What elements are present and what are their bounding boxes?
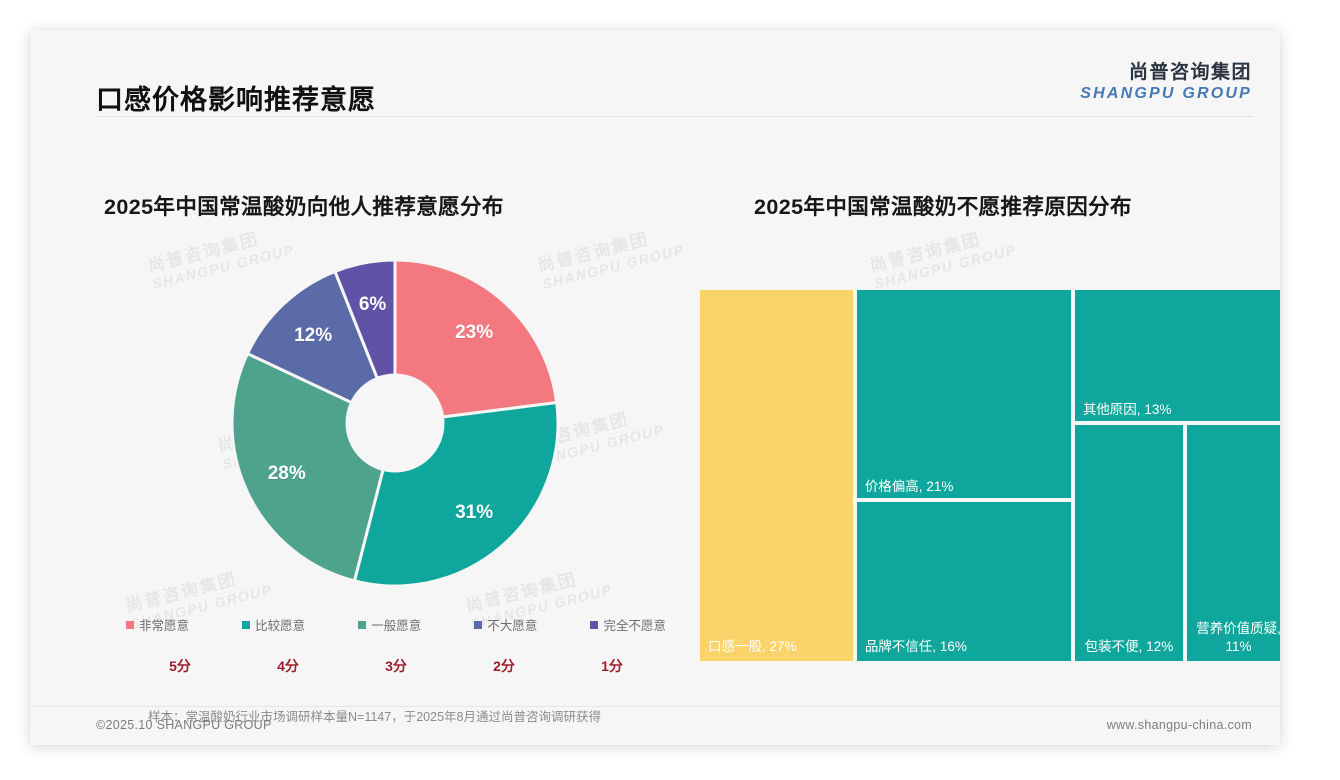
recommendation-willingness-donut-chart: 23%31%28%12%6% <box>125 258 665 608</box>
slide-body: 尚普咨询集团 SHANGPU GROUP 尚普咨询集团 SHANGPU GROU… <box>30 118 1280 708</box>
treemap-cell[interactable]: 价格偏高, 21% <box>855 288 1073 500</box>
score-label: 4分 <box>234 656 342 676</box>
donut-slice-value: 6% <box>359 294 386 316</box>
legend-item[interactable]: 完全不愿意 <box>590 615 666 634</box>
legend-label: 非常愿意 <box>139 615 189 634</box>
legend-label: 一般愿意 <box>371 615 421 634</box>
brand-logo: 尚普咨询集团 SHANGPU GROUP <box>1080 62 1252 103</box>
slide-footer: ©2025.10 SHANGPU GROUP www.shangpu-china… <box>30 706 1280 745</box>
treemap-cell-label: 营养价值质疑, 11% <box>1191 620 1280 655</box>
donut-legend: 非常愿意比较愿意一般愿意不大愿意完全不愿意 <box>126 615 666 634</box>
legend-label: 不大愿意 <box>487 615 537 634</box>
legend-label: 完全不愿意 <box>603 615 666 634</box>
donut-slice-value: 23% <box>455 322 493 344</box>
legend-swatch-icon <box>126 621 134 629</box>
legend-swatch-icon <box>590 621 598 629</box>
donut-slice-value: 31% <box>455 502 493 524</box>
score-label: 1分 <box>558 656 666 676</box>
footer-copyright: ©2025.10 SHANGPU GROUP <box>96 718 272 732</box>
treemap-cell[interactable]: 其他原因, 13% <box>1073 288 1280 423</box>
right-chart-title: 2025年中国常温酸奶不愿推荐原因分布 <box>754 190 1132 221</box>
treemap-cell-label: 其他原因, 13% <box>1083 401 1280 418</box>
left-chart-title: 2025年中国常温酸奶向他人推荐意愿分布 <box>104 190 504 221</box>
legend-item[interactable]: 不大愿意 <box>474 615 537 634</box>
treemap-cell[interactable]: 营养价值质疑, 11% <box>1185 423 1280 663</box>
treemap-cell[interactable]: 包装不便, 12% <box>1073 423 1185 663</box>
legend-item[interactable]: 一般愿意 <box>358 615 421 634</box>
score-label: 2分 <box>450 656 558 676</box>
footer-website: www.shangpu-china.com <box>1107 718 1252 732</box>
score-row: 5分4分3分2分1分 <box>126 656 666 676</box>
legend-label: 比较愿意 <box>255 615 305 634</box>
slide-header: 口感价格影响推荐意愿 尚普咨询集团 SHANGPU GROUP <box>30 30 1280 118</box>
treemap-cell-label: 包装不便, 12% <box>1079 638 1179 655</box>
logo-english-text: SHANGPU GROUP <box>1080 84 1252 103</box>
legend-swatch-icon <box>242 621 250 629</box>
watermark-cn: 尚普咨询集团 <box>867 221 1014 277</box>
score-label: 3分 <box>342 656 450 676</box>
donut-hole <box>346 374 445 473</box>
treemap-cell-label: 口感一般, 27% <box>708 638 847 655</box>
page-title: 口感价格影响推荐意愿 <box>96 78 376 117</box>
legend-swatch-icon <box>474 621 482 629</box>
score-label: 5分 <box>126 656 234 676</box>
refusal-reason-treemap: 口感一般, 27%价格偏高, 21%品牌不信任, 16%其他原因, 13%包装不… <box>698 288 1280 663</box>
watermark: 尚普咨询集团 SHANGPU GROUP <box>867 221 1018 294</box>
legend-item[interactable]: 非常愿意 <box>126 615 189 634</box>
legend-item[interactable]: 比较愿意 <box>242 615 305 634</box>
donut-svg <box>230 258 560 588</box>
logo-chinese-text: 尚普咨询集团 <box>1080 62 1252 84</box>
treemap-cell[interactable]: 品牌不信任, 16% <box>855 500 1073 663</box>
donut-slice-value: 28% <box>268 463 306 485</box>
header-divider <box>96 116 1254 117</box>
treemap-cell-label: 品牌不信任, 16% <box>865 638 1065 655</box>
treemap-cell[interactable]: 口感一般, 27% <box>698 288 855 663</box>
watermark-en: SHANGPU GROUP <box>873 242 1019 294</box>
donut-slice-value: 12% <box>294 325 332 347</box>
treemap-cell-label: 价格偏高, 21% <box>865 478 1065 495</box>
slide-canvas: 口感价格影响推荐意愿 尚普咨询集团 SHANGPU GROUP 尚普咨询集团 S… <box>30 30 1280 745</box>
legend-swatch-icon <box>358 621 366 629</box>
